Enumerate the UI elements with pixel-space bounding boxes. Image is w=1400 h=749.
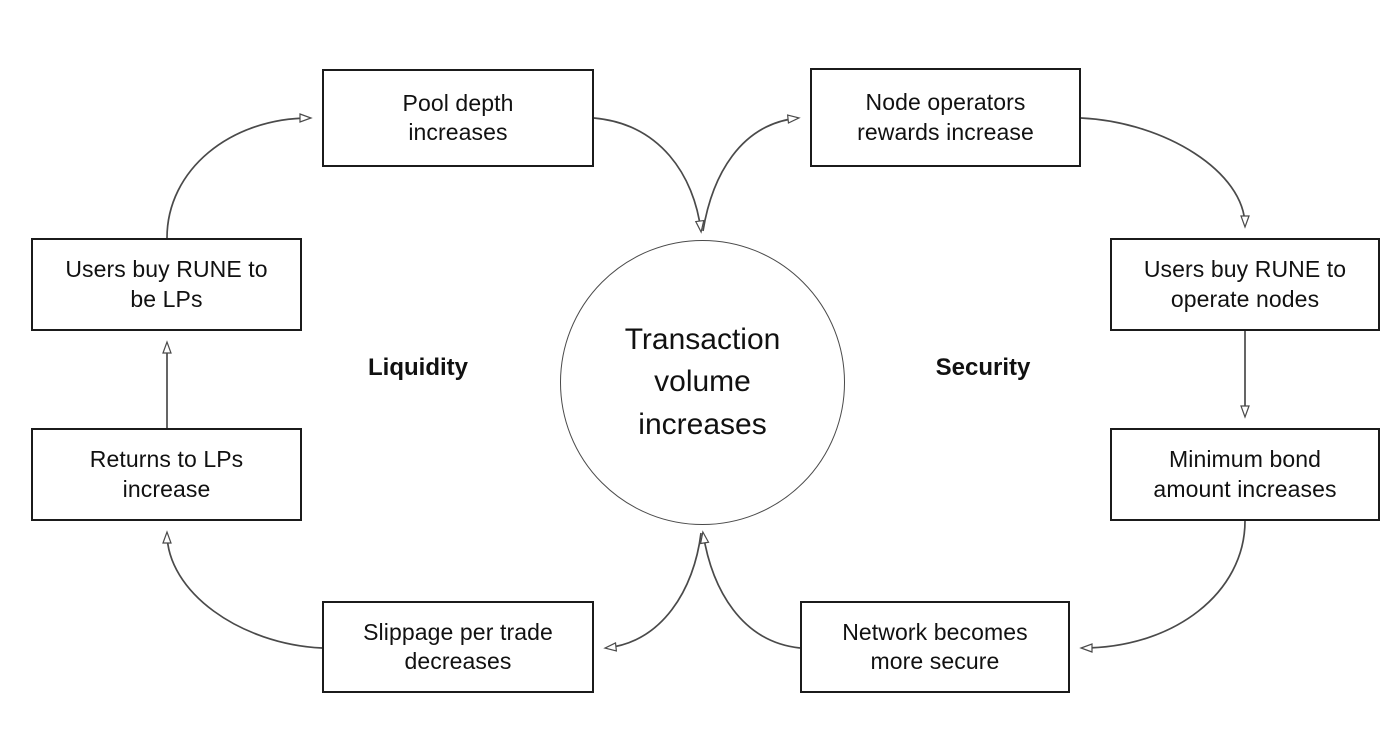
node-label: Slippage per tradedecreases	[355, 618, 561, 677]
edge-slippage-to-returns	[167, 533, 322, 648]
edge-minimum-bond-to-network-secure	[1082, 521, 1245, 648]
node-users-buy-rune-to-operate-nodes[interactable]: Users buy RUNE tooperate nodes	[1110, 238, 1380, 331]
node-users-buy-rune-to-be-lps[interactable]: Users buy RUNE tobe LPs	[31, 238, 302, 331]
node-network-becomes-more-secure[interactable]: Network becomesmore secure	[800, 601, 1070, 693]
edge-node-operators-to-operate-nodes	[1081, 118, 1245, 226]
node-returns-to-lps-increase[interactable]: Returns to LPsincrease	[31, 428, 302, 521]
section-label-liquidity: Liquidity	[368, 354, 468, 382]
edge-center-to-node-operators	[703, 118, 798, 231]
edge-lps-to-pool-depth	[167, 118, 310, 238]
node-slippage-per-trade-decreases[interactable]: Slippage per tradedecreases	[322, 601, 594, 693]
edge-pool-depth-to-center	[594, 118, 701, 231]
section-label-security: Security	[936, 354, 1031, 382]
node-label: Users buy RUNE tooperate nodes	[1136, 255, 1354, 314]
node-node-operators-rewards-increase[interactable]: Node operatorsrewards increase	[810, 68, 1081, 167]
node-pool-depth-increases[interactable]: Pool depthincreases	[322, 69, 594, 167]
diagram-canvas: Transactionvolumeincreases Pool depthinc…	[0, 0, 1400, 749]
node-minimum-bond-amount-increases[interactable]: Minimum bondamount increases	[1110, 428, 1380, 521]
edge-center-to-slippage	[606, 533, 701, 648]
edge-network-secure-to-center	[703, 533, 800, 648]
center-node-transaction-volume: Transactionvolumeincreases	[560, 240, 845, 525]
node-label: Pool depthincreases	[395, 89, 522, 148]
node-label: Returns to LPsincrease	[82, 445, 252, 504]
node-label: Minimum bondamount increases	[1145, 445, 1344, 504]
center-node-label: Transactionvolumeincreases	[625, 319, 781, 447]
node-label: Users buy RUNE tobe LPs	[57, 255, 275, 314]
node-label: Network becomesmore secure	[834, 618, 1036, 677]
node-label: Node operatorsrewards increase	[849, 88, 1042, 147]
